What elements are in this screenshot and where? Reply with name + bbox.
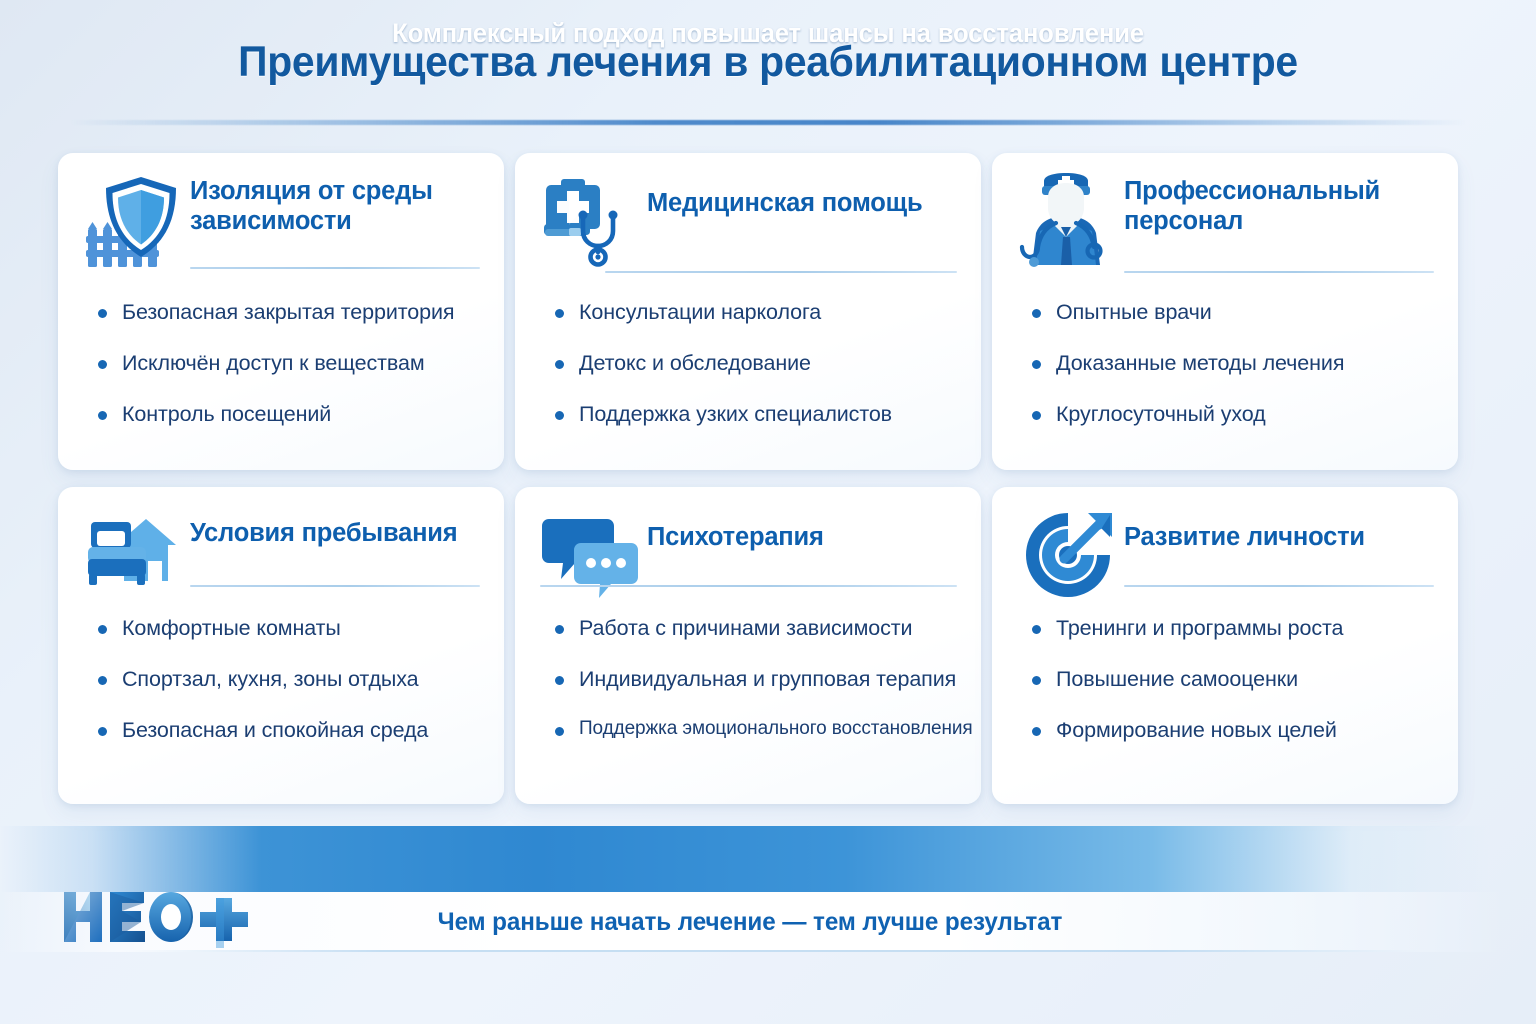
list-item: Поддержка узких специалистов [551, 401, 963, 428]
card-divider [1124, 585, 1434, 587]
list-item: Формирование новых целей [1028, 717, 1440, 744]
card-bullet-list: Комфортные комнаты Спортзал, кухня, зоны… [94, 615, 486, 744]
card-bullet-list: Консультации нарколога Детокс и обследов… [551, 299, 963, 428]
card-professional-staff[interactable]: Профессиональный персонал Опытные врачи … [992, 153, 1458, 470]
list-item: Индивидуальная и групповая терапия [551, 666, 963, 693]
footer-banner-text: Комплексный подход повышает шансы на вос… [23, 0, 1513, 66]
speech-bubbles-icon [541, 505, 641, 605]
list-item: Спортзал, кухня, зоны отдыха [94, 666, 486, 693]
card-header: Условия пребывания [58, 487, 504, 607]
card-medical-help[interactable]: Медицинская помощь Консультации нарколог… [515, 153, 981, 470]
card-bullet-list: Безопасная закрытая территория Исключён … [94, 299, 486, 428]
card-header: Профессиональный персонал [992, 153, 1458, 273]
card-isolation[interactable]: Изоляция от среды зависимости Безопасная… [58, 153, 504, 470]
card-divider [190, 267, 480, 269]
card-title: Профессиональный персонал [1124, 177, 1436, 236]
card-divider [190, 585, 480, 587]
list-item: Безопасная и спокойная среда [94, 717, 486, 744]
list-item: Консультации нарколога [551, 299, 963, 326]
card-title: Условия пребывания [190, 519, 482, 549]
card-divider [540, 585, 957, 587]
list-item: Повышение самооценки [1028, 666, 1440, 693]
card-header: Медицинская помощь [515, 153, 981, 273]
neo-plus-logo[interactable] [58, 884, 258, 950]
card-header: Изоляция от среды зависимости [58, 153, 504, 273]
card-living-conditions[interactable]: Условия пребывания Комфортные комнаты Сп… [58, 487, 504, 804]
benefits-grid: Изоляция от среды зависимости Безопасная… [58, 153, 1458, 804]
list-item: Детокс и обследование [551, 350, 963, 377]
doctor-icon [1018, 171, 1118, 271]
card-header: Психотерапия [515, 487, 981, 607]
footer-banner [0, 826, 1536, 892]
card-bullet-list: Работа с причинами зависимости Индивидуа… [551, 615, 963, 741]
list-item: Круглосуточный уход [1028, 401, 1440, 428]
card-bullet-list: Опытные врачи Доказанные методы лечения … [1028, 299, 1440, 428]
card-title: Медицинская помощь [647, 189, 959, 219]
list-item: Доказанные методы лечения [1028, 350, 1440, 377]
target-arrow-icon [1018, 505, 1118, 605]
card-title: Развитие личности [1124, 523, 1436, 553]
shield-fence-icon [84, 171, 184, 271]
list-item: Работа с причинами зависимости [551, 615, 963, 642]
footer-tagline: Чем раньше начать лечение — тем лучше ре… [314, 892, 1187, 952]
header-divider [70, 120, 1466, 125]
medical-case-stethoscope-icon [541, 171, 641, 271]
card-header: Развитие личности [992, 487, 1458, 607]
card-title: Психотерапия [647, 523, 959, 553]
card-personal-growth[interactable]: Развитие личности Тренинги и программы р… [992, 487, 1458, 804]
bed-house-icon [84, 505, 184, 605]
card-title: Изоляция от среды зависимости [190, 177, 482, 236]
card-divider [1124, 271, 1434, 273]
infographic-page: Преимущества лечения в реабилитационном … [0, 0, 1536, 1024]
card-divider [605, 271, 957, 273]
list-item: Исключён доступ к веществам [94, 350, 486, 377]
list-item: Поддержка эмоционального восстановления [551, 717, 963, 741]
list-item: Безопасная закрытая территория [94, 299, 486, 326]
list-item: Контроль посещений [94, 401, 486, 428]
card-bullet-list: Тренинги и программы роста Повышение сам… [1028, 615, 1440, 744]
list-item: Опытные врачи [1028, 299, 1440, 326]
card-psychotherapy[interactable]: Психотерапия Работа с причинами зависимо… [515, 487, 981, 804]
list-item: Комфортные комнаты [94, 615, 486, 642]
list-item: Тренинги и программы роста [1028, 615, 1440, 642]
